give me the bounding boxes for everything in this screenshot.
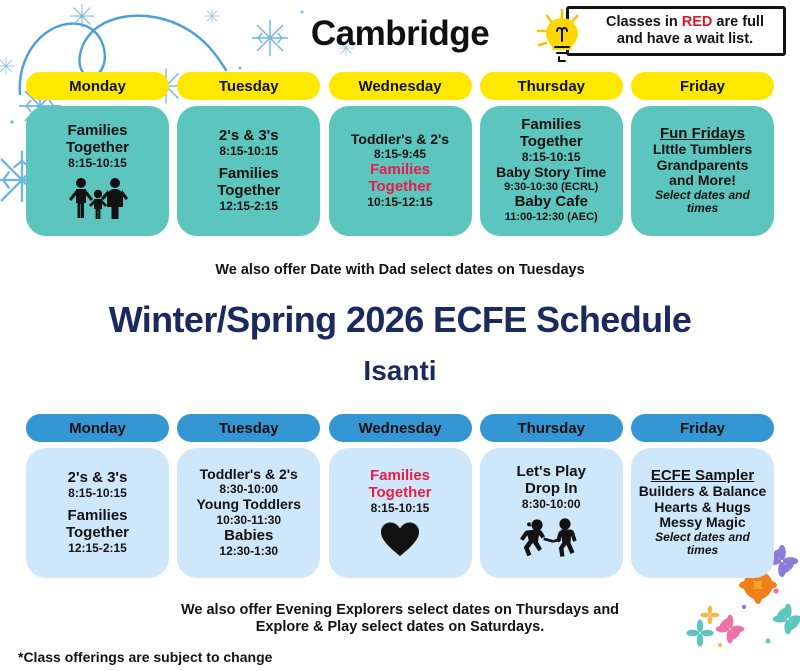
day-column-tuesday: TuesdayToddler's & 2's8:30-10:00Young To… — [177, 414, 320, 578]
class-name: Grandparents — [637, 158, 768, 173]
class-name: Families — [32, 123, 163, 140]
class-time: 11:00-12:30 (AEC) — [486, 211, 617, 225]
class-name: Together — [183, 183, 314, 200]
class-name: LIttle Tumblers — [637, 142, 768, 157]
day-column-monday: Monday2's & 3's8:15-10:15FamiliesTogethe… — [26, 414, 169, 578]
class-time: 12:30-1:30 — [183, 544, 314, 559]
class-name: Fun Fridays — [637, 126, 768, 143]
day-header-monday[interactable]: Monday — [26, 72, 169, 100]
notice-prefix: Classes in — [606, 14, 682, 30]
main-title: Winter/Spring 2026 ECFE Schedule — [0, 299, 800, 341]
class-name: Families — [32, 508, 163, 525]
class-name: Toddler's & 2's — [335, 132, 466, 147]
schedule-card: 2's & 3's8:15-10:15FamiliesTogether12:15… — [26, 448, 169, 578]
schedule-card: Fun FridaysLIttle TumblersGrandparentsan… — [631, 106, 774, 236]
class-time: 8:30-10:00 — [486, 497, 617, 512]
class-name: Toddler's & 2's — [183, 467, 314, 482]
schedule-card: 2's & 3's8:15-10:15FamiliesTogether12:15… — [177, 106, 320, 236]
footnote: *Class offerings are subject to change — [18, 649, 272, 665]
day-column-monday: MondayFamiliesTogether8:15-10:15 — [26, 72, 169, 236]
class-name: Together — [32, 525, 163, 542]
class-name: Together — [335, 179, 466, 196]
class-time: 8:15-10:15 — [183, 144, 314, 159]
class-time: 8:15-9:45 — [335, 147, 466, 162]
class-time: 12:15-2:15 — [32, 541, 163, 556]
day-header-tuesday[interactable]: Tuesday — [177, 72, 320, 100]
class-name: Families — [335, 468, 466, 485]
lightbulb-icon — [533, 7, 591, 65]
day-header-monday[interactable]: Monday — [26, 414, 169, 442]
isanti-note: We also offer Evening Explorers select d… — [0, 602, 800, 637]
card-note: Select dates and — [637, 531, 768, 545]
class-name: 2's & 3's — [32, 470, 163, 487]
class-time: 10:30-11:30 — [183, 513, 314, 528]
heart-icon-wrapper — [335, 522, 466, 558]
day-column-wednesday: WednesdayFamiliesTogether8:15-10:15 — [329, 414, 472, 578]
class-time: 8:15-10:15 — [486, 150, 617, 165]
class-name: Builders & Balance — [637, 484, 768, 499]
class-name: Together — [32, 140, 163, 157]
day-header-tuesday[interactable]: Tuesday — [177, 414, 320, 442]
class-time: 8:15-10:15 — [335, 501, 466, 516]
class-name: Baby Story Time — [486, 165, 617, 180]
class-name: Babies — [183, 528, 314, 545]
schedule-card: Toddler's & 2's8:15-9:45FamiliesTogether… — [329, 106, 472, 236]
day-column-friday: FridayFun FridaysLIttle TumblersGrandpar… — [631, 72, 774, 236]
schedule-card: Toddler's & 2's8:30-10:00Young Toddlers1… — [177, 448, 320, 578]
class-name: Families — [335, 162, 466, 179]
class-name: and More! — [637, 173, 768, 188]
isanti-note-line1: We also offer Evening Explorers select d… — [0, 602, 800, 619]
class-name: Families — [486, 117, 617, 134]
two-children-icon-wrapper — [486, 518, 617, 562]
card-note: Select dates and — [637, 189, 768, 203]
day-column-thursday: ThursdayLet's PlayDrop In8:30-10:00 — [480, 414, 623, 578]
wait-list-notice: Classes in RED are full and have a wait … — [566, 6, 786, 56]
day-header-thursday[interactable]: Thursday — [480, 72, 623, 100]
schedule-card: FamiliesTogether8:15-10:15 — [329, 448, 472, 578]
class-name: Together — [335, 485, 466, 502]
day-header-friday[interactable]: Friday — [631, 414, 774, 442]
day-header-thursday[interactable]: Thursday — [480, 414, 623, 442]
class-time: 12:15-2:15 — [183, 199, 314, 214]
schedule-poster: Cambridge Classes in RED are full and ha… — [0, 0, 800, 671]
wait-list-notice-text: Classes in RED are full and have a wait … — [595, 14, 775, 48]
class-name: Hearts & Hugs — [637, 500, 768, 515]
class-time: 9:30-10:30 (ECRL) — [486, 181, 617, 195]
two-children-icon — [520, 518, 582, 562]
cambridge-schedule-grid: MondayFamiliesTogether8:15-10:15 Tuesday… — [26, 72, 774, 236]
family-icon — [67, 177, 129, 219]
class-name: Young Toddlers — [183, 497, 314, 512]
class-name: Messy Magic — [637, 515, 768, 530]
day-column-thursday: ThursdayFamiliesTogether8:15-10:15Baby S… — [480, 72, 623, 236]
class-time: 8:15-10:15 — [32, 486, 163, 501]
class-name: Drop In — [486, 481, 617, 498]
day-column-wednesday: WednesdayToddler's & 2's8:15-9:45Familie… — [329, 72, 472, 236]
notice-red-word: RED — [682, 14, 713, 30]
class-name: Baby Cafe — [486, 194, 617, 211]
schedule-card: FamiliesTogether8:15-10:15Baby Story Tim… — [480, 106, 623, 236]
class-time: 8:30-10:00 — [183, 482, 314, 497]
schedule-card: Let's PlayDrop In8:30-10:00 — [480, 448, 623, 578]
class-name: ECFE Sampler — [637, 468, 768, 485]
card-note: times — [637, 544, 768, 558]
card-note: times — [637, 202, 768, 216]
class-name: 2's & 3's — [183, 128, 314, 145]
isanti-note-line2: Explore & Play select dates on Saturdays… — [0, 619, 800, 636]
day-header-friday[interactable]: Friday — [631, 72, 774, 100]
day-column-tuesday: Tuesday2's & 3's8:15-10:15FamiliesTogeth… — [177, 72, 320, 236]
day-header-wednesday[interactable]: Wednesday — [329, 414, 472, 442]
day-column-friday: FridayECFE SamplerBuilders & BalanceHear… — [631, 414, 774, 578]
class-time: 10:15-12:15 — [335, 195, 466, 210]
class-name: Together — [486, 134, 617, 151]
class-name: Families — [183, 166, 314, 183]
day-header-wednesday[interactable]: Wednesday — [329, 72, 472, 100]
class-name: Let's Play — [486, 464, 617, 481]
page-title-isanti: Isanti — [0, 355, 800, 387]
family-icon-wrapper — [32, 177, 163, 219]
isanti-schedule-grid: Monday2's & 3's8:15-10:15FamiliesTogethe… — [26, 414, 774, 578]
class-time: 8:15-10:15 — [32, 156, 163, 171]
schedule-card: FamiliesTogether8:15-10:15 — [26, 106, 169, 236]
cambridge-note: We also offer Date with Dad select dates… — [0, 262, 800, 279]
schedule-card: ECFE SamplerBuilders & BalanceHearts & H… — [631, 448, 774, 578]
heart-icon — [380, 522, 420, 558]
